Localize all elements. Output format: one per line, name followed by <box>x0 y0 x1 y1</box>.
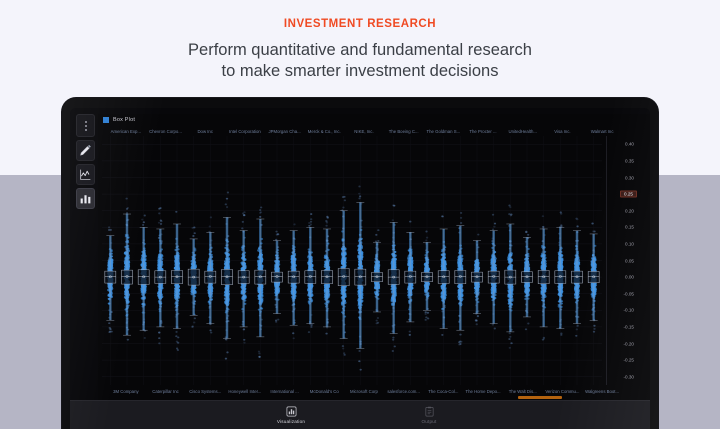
hero-eyebrow: INVESTMENT RESEARCH <box>0 18 720 30</box>
category-label-top: NIKE, Inc. <box>344 127 384 136</box>
horizontal-scrollbar[interactable] <box>104 396 618 399</box>
legend-swatch-box-plot <box>103 117 109 123</box>
page-title: Perform quantitative and fundamental res… <box>0 40 720 82</box>
category-label-bottom: Microsoft Corp <box>344 387 384 396</box>
chart-legend: Box Plot <box>103 117 135 123</box>
bar-chart-icon <box>79 192 92 205</box>
category-label-bottom: The Coca-Col... <box>424 387 464 396</box>
category-label-bottom: Honeywell Inter... <box>225 387 265 396</box>
category-label-bottom: Verizon Commu... <box>543 387 583 396</box>
category-label-top: Merck & Co., Inc. <box>304 127 344 136</box>
pencil-icon <box>79 144 92 157</box>
kebab-menu-icon <box>85 121 87 131</box>
y-axis-tick-label: -0.30 <box>624 374 634 379</box>
y-axis-tick-label: 0.40 <box>625 142 634 147</box>
bar-chart-icon <box>286 406 297 417</box>
hero-section: INVESTMENT RESEARCH Perform quantitative… <box>0 0 720 100</box>
box-plot-svg <box>102 136 602 385</box>
category-label-top: The Procter ... <box>463 127 503 136</box>
y-axis-tick-label: -0.05 <box>624 291 634 296</box>
category-label-bottom: The Home Depo... <box>463 387 503 396</box>
tab-label-visualization: Visualization <box>277 419 305 424</box>
category-label-top: Dow Inc <box>185 127 225 136</box>
category-label-bottom: The Walt Dis... <box>503 387 543 396</box>
category-label-bottom: 3M Company <box>106 387 146 396</box>
chart-bottom-category-labels: 3M CompanyCaterpillar IncCisco Systems..… <box>106 387 622 396</box>
y-axis-tick-label: -0.15 <box>624 324 634 329</box>
category-label-bottom: McDonald's Co <box>304 387 344 396</box>
horizontal-scrollbar-thumb[interactable] <box>518 396 562 399</box>
y-axis-tick-label: -0.10 <box>624 308 634 313</box>
clipboard-icon <box>424 406 435 417</box>
category-label-top: Visa Inc. <box>543 127 583 136</box>
category-label-top: UnitedHealth... <box>503 127 543 136</box>
category-label-bottom: Walgreens Boot... <box>582 387 622 396</box>
left-toolbar <box>76 114 95 209</box>
y-axis-tick-label: 0.35 <box>625 158 634 163</box>
category-label-top: Walmart Inc <box>582 127 622 136</box>
y-axis-line <box>606 136 607 385</box>
y-axis-tick-label: 0.00 <box>625 275 634 280</box>
tab-visualization[interactable]: Visualization <box>261 406 321 424</box>
y-axis-tick-label: 0.10 <box>625 241 634 246</box>
tablet-screen: Box Plot American Exp...Chevron Corpo...… <box>70 108 650 429</box>
toolbar-item-more-menu[interactable] <box>76 114 95 137</box>
category-label-top: The Goldman S... <box>424 127 464 136</box>
category-label-bottom: salesforce.com... <box>384 387 424 396</box>
category-label-top: JPMorgan Cha... <box>265 127 305 136</box>
y-axis-tick-label: -0.20 <box>624 341 634 346</box>
y-axis: 0.400.350.300.250.200.150.100.050.00-0.0… <box>604 136 648 385</box>
tab-output[interactable]: Output <box>399 406 459 424</box>
legend-label-box-plot: Box Plot <box>113 117 135 123</box>
toolbar-item-line-chart[interactable] <box>76 164 95 185</box>
category-label-top: Intel Corporation <box>225 127 265 136</box>
category-label-top: Chevron Corpo... <box>146 127 186 136</box>
category-label-bottom: International ... <box>265 387 305 396</box>
tablet-device-frame: Box Plot American Exp...Chevron Corpo...… <box>62 98 658 429</box>
category-label-top: The Boeing C... <box>384 127 424 136</box>
y-axis-tick-label: 0.20 <box>625 208 634 213</box>
line-chart-icon <box>79 168 92 181</box>
bottom-tab-bar: Visualization Output <box>70 400 650 429</box>
y-axis-tick-label: -0.25 <box>624 358 634 363</box>
chart-top-category-labels: American Exp...Chevron Corpo...Dow IncIn… <box>106 127 622 136</box>
category-label-bottom: Cisco Systems... <box>185 387 225 396</box>
headline-line-2: to make smarter investment decisions <box>222 62 499 80</box>
category-label-top: American Exp... <box>106 127 146 136</box>
chart-panel: Box Plot American Exp...Chevron Corpo...… <box>98 114 650 401</box>
toolbar-item-edit[interactable] <box>76 140 95 161</box>
y-axis-tick-label: 0.05 <box>625 258 634 263</box>
y-axis-tick-label: 0.15 <box>625 225 634 230</box>
y-axis-tick-label: 0.30 <box>625 175 634 180</box>
category-label-bottom: Caterpillar Inc <box>146 387 186 396</box>
toolbar-item-bar-chart[interactable] <box>76 188 95 209</box>
y-axis-tick-label: 0.25 <box>620 191 637 198</box>
box-plot-canvas[interactable] <box>102 136 602 385</box>
headline-line-1: Perform quantitative and fundamental res… <box>188 41 532 59</box>
tab-label-output: Output <box>422 419 437 424</box>
